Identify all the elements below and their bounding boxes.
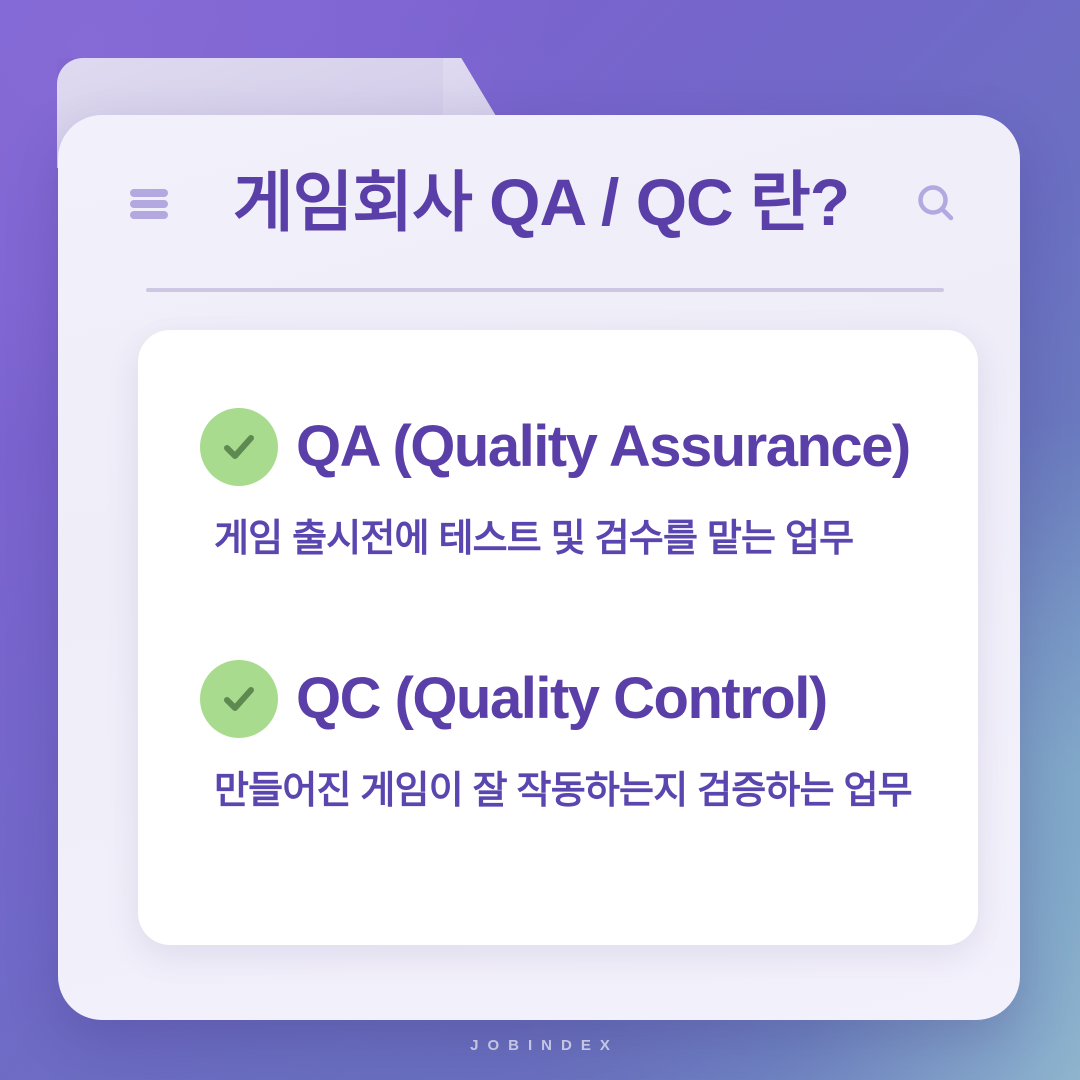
item-title: QC (Quality Control) [296,670,827,728]
item-heading-row: QA (Quality Assurance) [200,408,936,486]
footer-brand: JOBINDEX [0,1037,1080,1054]
hamburger-menu-icon[interactable] [130,189,168,219]
item-heading-row: QC (Quality Control) [200,660,936,738]
list-item: QC (Quality Control) 만들어진 게임이 잘 작동하는지 검증… [138,660,978,816]
window-panel: 게임회사 QA / QC 란? QA (Quality Assurance) 게… [58,115,1020,1020]
menu-bar-3 [130,211,168,219]
header-divider [146,288,944,292]
menu-bar-2 [130,200,168,208]
menu-bar-1 [130,189,168,197]
check-icon [200,408,278,486]
check-icon [200,660,278,738]
search-icon[interactable] [914,182,958,226]
item-description: 게임 출시전에 테스트 및 검수를 맡는 업무 [214,516,936,564]
item-title: QA (Quality Assurance) [296,418,910,476]
header-bar: 게임회사 QA / QC 란? [58,115,1020,293]
content-card: QA (Quality Assurance) 게임 출시전에 테스트 및 검수를… [138,330,978,945]
item-description: 만들어진 게임이 잘 작동하는지 검증하는 업무 [214,768,936,816]
page-title: 게임회사 QA / QC 란? [168,169,914,235]
list-item: QA (Quality Assurance) 게임 출시전에 테스트 및 검수를… [138,408,978,564]
